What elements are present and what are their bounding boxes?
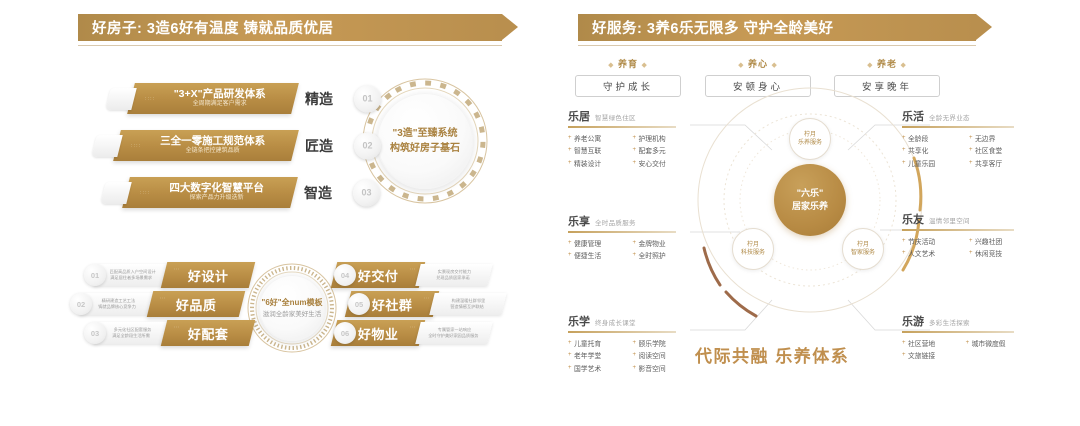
bar-number-badge: 02	[354, 132, 381, 159]
le-item-list: +健康管理 +金牌物业 +便捷生活 +全时照护	[568, 238, 688, 261]
six-note-line-2: 营造情感互护联结	[450, 304, 484, 311]
bar-subtitle: 全周期满足客户需求	[193, 100, 247, 109]
le-item: +颐乐学院	[633, 338, 689, 348]
six-good-item-3: 多元化社区配套服务 满足全龄段生活所需 ::: 好配套 03	[96, 320, 252, 346]
bullet-icon: +	[902, 340, 906, 346]
bar-tail	[91, 135, 122, 157]
bar-tail	[105, 88, 136, 110]
bullet-icon: +	[969, 147, 973, 153]
le-subtitle: 全龄无界业态	[929, 112, 970, 122]
infographic-page: 好房子: 3造6好有温度 铸就品质优居 :::: "3+X"产品研发体系 全周期…	[0, 0, 1080, 426]
le-item: +健康管理	[568, 238, 624, 248]
bullet-icon: +	[969, 160, 973, 166]
le-underline	[902, 126, 1014, 128]
hub-line-2: 居家乐养	[792, 200, 828, 213]
bullet-icon: +	[902, 147, 906, 153]
satellite-line-1: 柠月	[747, 241, 759, 250]
bar-keyword: 智造	[304, 183, 332, 203]
le-name: 乐友	[902, 211, 924, 227]
left-banner-rule	[78, 45, 502, 46]
le-item: +休闲竞技	[969, 248, 1027, 258]
bar-subtitle: 全链条把控建筑品质	[186, 147, 240, 156]
le-item: +国学艺术	[568, 363, 624, 373]
le-item: +阅读空间	[633, 350, 689, 360]
circle-line-2: 构筑好房子基石	[390, 141, 460, 156]
bar-subtitle: 探索产品力升级迭新	[190, 194, 244, 203]
six-dots-icon: :::	[409, 324, 415, 329]
satellite-line-1: 柠月	[857, 241, 869, 250]
bullet-icon: +	[568, 252, 572, 258]
bar-dots-icon: ::::	[131, 143, 141, 149]
six-dots-icon: :::	[174, 266, 180, 271]
bar-body: :::: 四大数字化智慧平台 探索产品力升级迭新	[122, 177, 298, 208]
left-banner-title: 好房子: 3造6好有温度 铸就品质优居	[78, 14, 502, 41]
le-item: +城市微度假	[966, 338, 1027, 348]
bar-dots-icon: ::::	[145, 96, 155, 102]
six-number-badge: 06	[334, 322, 356, 344]
le-underline	[902, 229, 1014, 231]
le-item: +精装设计	[568, 158, 624, 168]
le-heading: 乐友 温情邻里空间	[902, 211, 1027, 227]
le-item: +老年学堂	[568, 350, 624, 360]
le-item: +金牌物业	[633, 238, 689, 248]
bullet-icon: +	[902, 135, 906, 141]
bullet-icon: +	[568, 135, 572, 141]
satellite-line-2: 乐养服务	[798, 139, 822, 148]
le-block-leyou-travel: 乐游 多彩生活探索 +社区营地 +城市微度假 +文旅链接	[902, 313, 1027, 360]
six-note-line-2: 全时守护美好家园品质服务	[428, 333, 478, 340]
le-name: 乐居	[568, 108, 590, 124]
bullet-icon: +	[568, 340, 572, 346]
bullet-icon: +	[969, 135, 973, 141]
bullet-icon: +	[902, 238, 906, 244]
le-name: 乐游	[902, 313, 924, 329]
bullet-icon: +	[568, 160, 572, 166]
six-number-badge: 03	[84, 322, 106, 344]
left-panel: 好房子: 3造6好有温度 铸就品质优居 :::: "3+X"产品研发体系 全周期…	[0, 0, 540, 426]
six-good-item-4: 04 ::: 好交付 实景现房交付能力 兑现品质居家承诺	[334, 262, 490, 288]
six-note-line-2: 满足居住者多场景需求	[110, 275, 152, 282]
six-note-line-2: 满足全龄段生活所需	[112, 333, 150, 340]
le-block-lexue: 乐学 终身成长课堂 +儿童托育 +颐乐学院 +老年学堂 +阅读空间 +国学艺术 …	[568, 313, 688, 373]
le-subtitle: 智慧绿色住区	[595, 112, 636, 122]
bar-dots-icon: ::::	[140, 190, 150, 196]
le-item: +共享化	[902, 145, 960, 155]
le-item: +社区营地	[902, 338, 957, 348]
six-circle-disc: "6好"全num模板 滋润全龄家美好生活	[259, 275, 325, 341]
le-item: +影音空间	[633, 363, 689, 373]
le-block-lejv: 乐居 智慧绿色住区 +养老公寓 +护理机构 +智慧互联 +配套多元 +精装设计 …	[568, 108, 688, 168]
six-dots-icon: :::	[174, 324, 180, 329]
le-item: +共享客厅	[969, 158, 1027, 168]
bullet-icon: +	[633, 160, 637, 166]
bullet-icon: +	[966, 340, 970, 346]
bar-title: 三全一零施工规范体系	[160, 135, 265, 147]
le-subtitle: 终身成长课堂	[595, 317, 636, 327]
le-subtitle: 多彩生活探索	[929, 317, 970, 327]
le-item-list: +社区营地 +城市微度假 +文旅链接	[902, 338, 1027, 361]
le-item: +人文艺术	[902, 248, 960, 258]
bullet-icon: +	[902, 352, 906, 358]
le-underline	[902, 331, 1014, 333]
le-item: +文旅链接	[902, 350, 957, 360]
bullet-icon: +	[633, 240, 637, 246]
six-circle-line-1: "6好"全num模板	[262, 297, 323, 309]
six-good-item-1: 匹配高品质入户空间设计 满足居住者多场景需求 ::: 好设计 01	[96, 262, 252, 288]
bar-body: :::: 三全一零施工规范体系 全链条把控建筑品质	[113, 130, 299, 161]
le-block-lexiang: 乐享 全时品质服务 +健康管理 +金牌物业 +便捷生活 +全时照护	[568, 213, 688, 260]
bullet-icon: +	[568, 147, 572, 153]
le-heading: 乐居 智慧绿色住区	[568, 108, 688, 124]
le-item: +儿童托育	[568, 338, 624, 348]
le-underline	[568, 231, 676, 233]
six-good-item-6: 06 ::: 好物业 专属管家一站响应 全时守护美好家园品质服务	[334, 320, 490, 346]
le-name: 乐活	[902, 108, 924, 124]
six-note-line-2: 铸就品牌核心竞争力	[98, 304, 136, 311]
six-bar: ::: 好配套	[161, 320, 255, 346]
le-subtitle: 温情邻里空间	[929, 215, 970, 225]
six-good-circle: "6好"全num模板 滋润全龄家美好生活	[246, 262, 338, 354]
le-subtitle: 全时品质服务	[595, 217, 636, 227]
six-circle-line-2: 滋润全龄家美好生活	[263, 309, 322, 320]
bullet-icon: +	[969, 250, 973, 256]
le-item: +护理机构	[633, 133, 689, 143]
bar-number-badge: 03	[353, 179, 380, 206]
craft-bar-1: :::: "3+X"产品研发体系 全周期满足客户需求 精造 01	[108, 83, 333, 114]
satellite-line-1: 柠月	[804, 131, 816, 140]
craft-bar-3: :::: 四大数字化智慧平台 探索产品力升级迭新 智造 03	[103, 177, 332, 208]
le-item: +配套多元	[633, 145, 689, 155]
six-label: 好设计	[188, 266, 229, 285]
le-name: 乐学	[568, 313, 590, 329]
le-item: +节庆活动	[902, 236, 960, 246]
bullet-icon: +	[568, 365, 572, 371]
six-number-badge: 02	[70, 293, 92, 315]
satellite-2: 柠月 科技服务	[732, 228, 774, 270]
le-item-list: +节庆活动 +兴趣社团 +人文艺术 +休闲竞技	[902, 236, 1027, 259]
six-label: 好交付	[358, 266, 399, 285]
six-note-line-2: 兑现品质居家承诺	[436, 275, 470, 282]
le-item-list: +儿童托育 +颐乐学院 +老年学堂 +阅读空间 +国学艺术 +影音空间	[568, 338, 688, 373]
bar-tail	[100, 182, 131, 204]
le-item: +智慧互联	[568, 145, 624, 155]
le-item: +全时照护	[633, 250, 689, 260]
bullet-icon: +	[568, 352, 572, 358]
bullet-icon: +	[633, 340, 637, 346]
satellite-3: 柠月 智家服务	[842, 228, 884, 270]
bar-title: "3+X"产品研发体系	[174, 88, 266, 100]
six-label: 好配套	[188, 324, 229, 343]
six-dots-icon: :::	[160, 295, 166, 300]
bullet-icon: +	[568, 240, 572, 246]
bar-keyword: 匠造	[305, 136, 333, 156]
hub-line-1: "六乐"	[797, 187, 824, 200]
le-item: +社区食堂	[969, 145, 1027, 155]
bullet-icon: +	[902, 250, 906, 256]
satellite-line-2: 智家服务	[851, 249, 875, 258]
bar-title: 四大数字化智慧平台	[169, 182, 264, 194]
six-note: 实景现房交付能力 兑现品质居家承诺	[415, 264, 492, 286]
bullet-icon: +	[969, 238, 973, 244]
hub-core: "六乐" 居家乐养	[774, 164, 846, 236]
le-item: +安心交付	[633, 158, 689, 168]
six-good-item-2: 精研建造工艺工法 铸就品牌核心竞争力 ::: 好品质 02	[82, 291, 242, 317]
tagline: 代际共融 乐养体系	[695, 342, 849, 367]
bullet-icon: +	[633, 365, 637, 371]
craft-bar-2: :::: 三全一零施工规范体系 全链条把控建筑品质 匠造 02	[94, 130, 333, 161]
le-block-leyou-friend: 乐友 温情邻里空间 +节庆活动 +兴趣社团 +人文艺术 +休闲竞技	[902, 211, 1027, 258]
le-item-list: +全龄段 +无边界 +共享化 +社区食堂 +儿童乐园 +共享客厅	[902, 133, 1027, 168]
le-underline	[568, 331, 676, 333]
le-item: +兴趣社团	[969, 236, 1027, 246]
bullet-icon: +	[633, 135, 637, 141]
six-dots-icon: :::	[423, 295, 429, 300]
le-underline	[568, 126, 676, 128]
six-bar: ::: 好设计	[161, 262, 255, 288]
le-item-list: +养老公寓 +护理机构 +智慧互联 +配套多元 +精装设计 +安心交付	[568, 133, 688, 168]
le-item: +无边界	[969, 133, 1027, 143]
circle-line-1: "3造"至臻系统	[392, 126, 457, 141]
six-note: 专属管家一站响应 全时守护美好家园品质服务	[415, 322, 492, 344]
six-dots-icon: :::	[409, 266, 415, 271]
le-item: +儿童乐园	[902, 158, 960, 168]
bar-number-badge: 01	[354, 85, 381, 112]
bullet-icon: +	[633, 352, 637, 358]
le-block-lehuo: 乐活 全龄无界业态 +全龄段 +无边界 +共享化 +社区食堂 +儿童乐园 +共享…	[902, 108, 1027, 168]
six-note: 构建温暖社群邻里 营造情感互护联结	[429, 293, 506, 315]
six-label: 好社群	[372, 295, 413, 314]
bullet-icon: +	[633, 252, 637, 258]
le-item: +养老公寓	[568, 133, 624, 143]
circle-disc: "3造"至臻系统 构筑好房子基石	[377, 93, 473, 189]
six-label: 好物业	[358, 324, 399, 343]
six-number-badge: 04	[334, 264, 356, 286]
six-number-badge: 01	[84, 264, 106, 286]
six-number-badge: 05	[348, 293, 370, 315]
le-heading: 乐活 全龄无界业态	[902, 108, 1027, 124]
le-item: +全龄段	[902, 133, 960, 143]
bullet-icon: +	[902, 160, 906, 166]
satellite-1: 柠月 乐养服务	[789, 118, 831, 160]
right-panel: 好服务: 3养6乐无限多 守护全龄美好 ◆ 养育 ◆ 守护成长 ◆ 养心 ◆ 安…	[540, 0, 1080, 426]
six-good-item-5: 05 ::: 好社群 构建温暖社群邻里 营造情感互护联结	[348, 291, 504, 317]
le-item: +便捷生活	[568, 250, 624, 260]
le-heading: 乐学 终身成长课堂	[568, 313, 688, 329]
six-bar: ::: 好品质	[147, 291, 245, 317]
bullet-icon: +	[633, 147, 637, 153]
satellite-line-2: 科技服务	[741, 249, 765, 258]
le-heading: 乐享 全时品质服务	[568, 213, 688, 229]
le-heading: 乐游 多彩生活探索	[902, 313, 1027, 329]
bar-keyword: 精造	[305, 89, 333, 109]
bar-body: :::: "3+X"产品研发体系 全周期满足客户需求	[127, 83, 299, 114]
le-name: 乐享	[568, 213, 590, 229]
six-label: 好品质	[176, 295, 217, 314]
